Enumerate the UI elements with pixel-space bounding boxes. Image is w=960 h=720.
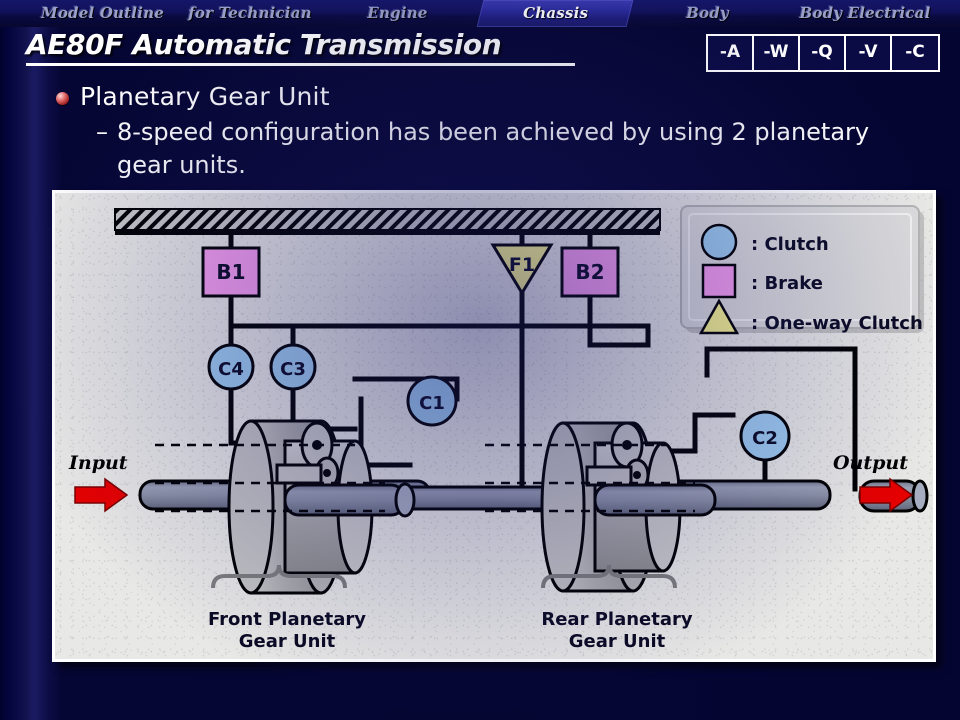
- slide-canvas: Model Outline for Technician Engine Chas…: [0, 0, 960, 720]
- transmission-diagram: B1 B2 F1 C4 C3: [55, 193, 933, 659]
- page-code-group: -A -W -Q -V -C: [706, 34, 940, 72]
- nav-tab-label: Chassis: [523, 0, 588, 26]
- clutch-c1-label: C1: [419, 393, 445, 414]
- brake-b1-label: B1: [216, 260, 245, 284]
- diagram-panel: B1 B2 F1 C4 C3: [52, 190, 936, 662]
- bullet-subpoint: 8-speed configuration has been achieved …: [117, 116, 907, 182]
- bullet-content: Planetary Gear Unit – 8-speed configurat…: [56, 80, 936, 182]
- nav-tab-engine[interactable]: Engine: [345, 0, 450, 27]
- legend-brake-text: : Brake: [751, 273, 823, 294]
- front-unit-line2: Gear Unit: [239, 631, 336, 652]
- clutch-c4-label: C4: [218, 359, 244, 380]
- legend-clutch-icon: [702, 225, 736, 259]
- title-underline: [26, 63, 575, 66]
- dash-marker: –: [96, 116, 108, 182]
- brake-b2[interactable]: B2: [562, 248, 618, 296]
- rear-unit-line1: Rear Planetary: [541, 609, 693, 630]
- nav-tab-for-technician[interactable]: for Technician: [175, 0, 325, 27]
- bullet-dot-icon: [56, 92, 69, 105]
- one-way-clutch-f1[interactable]: F1: [493, 245, 551, 293]
- clutch-c3-label: C3: [280, 359, 306, 380]
- nav-tab-label: Body Electrical: [800, 4, 931, 22]
- nav-tab-body[interactable]: Body: [660, 0, 755, 27]
- brake-b1[interactable]: B1: [203, 248, 259, 296]
- output-label: Output: [833, 452, 908, 474]
- front-unit-line1: Front Planetary: [208, 609, 366, 630]
- bullet-heading-row: Planetary Gear Unit: [56, 80, 936, 114]
- input-label: Input: [68, 452, 128, 474]
- legend-clutch-text: : Clutch: [751, 234, 829, 255]
- rear-unit-line2: Gear Unit: [569, 631, 666, 652]
- page-code-v[interactable]: -V: [846, 36, 892, 70]
- clutch-c3[interactable]: C3: [271, 345, 315, 389]
- diagram-legend: : Clutch : Brake : One-way Clutch: [681, 206, 924, 334]
- page-title: AE80F Automatic Transmission: [26, 28, 501, 61]
- bullet-sub-row: – 8-speed configuration has been achieve…: [96, 116, 936, 182]
- top-navigation-bar: Model Outline for Technician Engine Chas…: [0, 0, 960, 27]
- brake-b2-label: B2: [575, 260, 604, 284]
- input-arrow-icon: [75, 479, 127, 511]
- page-code-c[interactable]: -C: [892, 36, 938, 70]
- bullet-heading: Planetary Gear Unit: [80, 80, 330, 114]
- page-code-q[interactable]: -Q: [800, 36, 846, 70]
- clutch-c4[interactable]: C4: [209, 345, 253, 389]
- nav-tab-chassis[interactable]: Chassis: [477, 0, 634, 27]
- legend-brake-icon: [703, 265, 735, 297]
- fixed-case-hatching: [115, 209, 660, 235]
- one-way-clutch-f1-label: F1: [509, 254, 535, 276]
- nav-tab-label: Model Outline: [41, 4, 164, 22]
- input-marker: Input: [68, 452, 128, 511]
- nav-tab-label: Body: [686, 4, 729, 22]
- clutch-c2-label: C2: [752, 428, 778, 449]
- nav-tab-body-electrical[interactable]: Body Electrical: [780, 0, 950, 27]
- page-code-a[interactable]: -A: [708, 36, 754, 70]
- page-code-w[interactable]: -W: [754, 36, 800, 70]
- nav-tab-label: Engine: [367, 4, 427, 22]
- nav-tab-label: for Technician: [188, 4, 311, 22]
- nav-tab-model-outline[interactable]: Model Outline: [30, 0, 175, 27]
- clutch-c2[interactable]: C2: [741, 412, 789, 460]
- legend-oneway-text: : One-way Clutch: [751, 313, 923, 334]
- clutch-c1[interactable]: C1: [408, 377, 456, 425]
